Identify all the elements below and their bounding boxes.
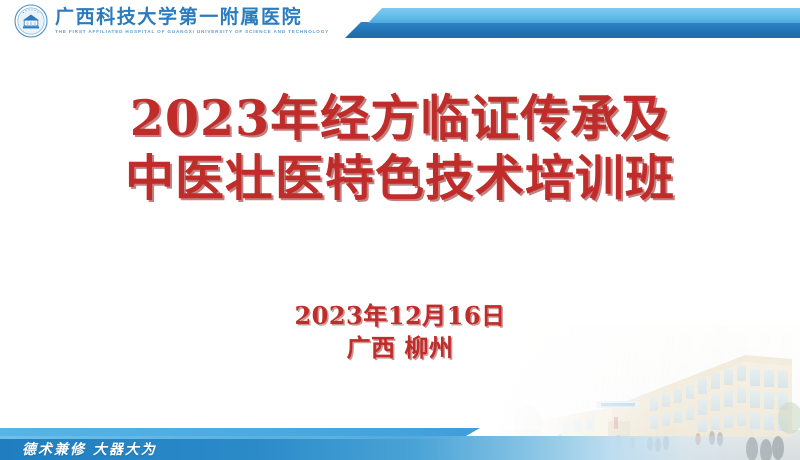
event-date: 2023年12月16日 [0,300,800,332]
title-line-1: 2023年经方临证传承及 [0,88,800,148]
hospital-crest-icon [14,4,48,38]
slide-canvas: 广西科技大学第一附属医院 THE FIRST AFFILIATED HOSPIT… [0,0,800,460]
institution-name-en: THE FIRST AFFILIATED HOSPITAL OF GUANGXI… [55,30,329,35]
header-ribbon-dark [345,22,800,38]
footer-band-light [0,428,480,436]
header-ribbon-light [368,8,800,23]
event-location: 广西 柳州 [0,332,800,364]
hospital-branding: 广西科技大学第一附属医院 THE FIRST AFFILIATED HOSPIT… [14,4,329,38]
institution-name-cn: 广西科技大学第一附属医院 [55,8,329,27]
title-line-2: 中医壮医特色技术培训班 [0,148,800,208]
page-title: 2023年经方临证传承及 中医壮医特色技术培训班 [0,88,800,209]
hospital-motto: 德术兼修 大器大为 [22,438,157,460]
event-meta: 2023年12月16日 广西 柳州 [0,300,800,364]
